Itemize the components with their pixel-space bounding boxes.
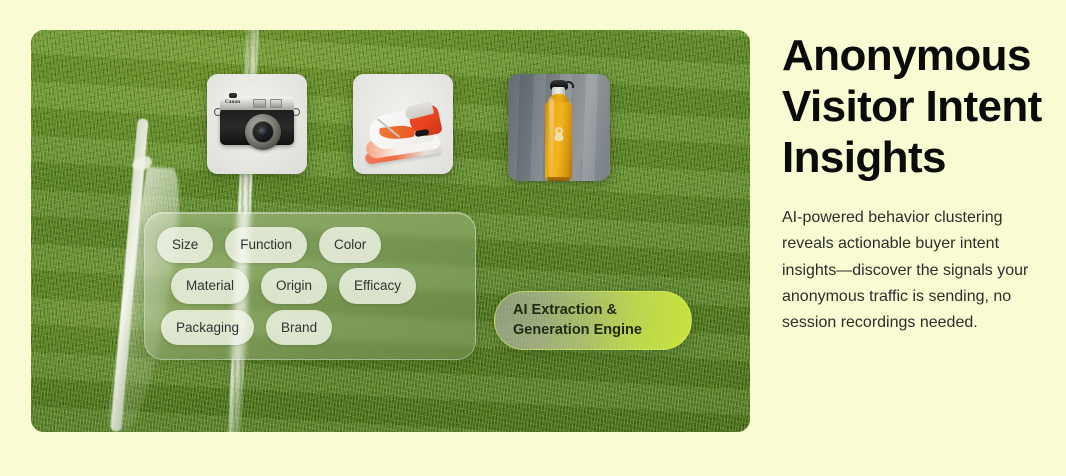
camera-shutter-button	[229, 93, 237, 98]
page-title: Anonymous Visitor Intent Insights	[782, 30, 1066, 183]
attribute-row: Material Origin Efficacy	[157, 268, 463, 304]
attribute-tag-origin[interactable]: Origin	[261, 268, 327, 304]
bottle-base	[547, 177, 570, 181]
product-thumb-camera[interactable]: Canon	[207, 74, 307, 174]
hero-text-column: Anonymous Visitor Intent Insights AI-pow…	[782, 30, 1040, 336]
hydroflask-logo-icon	[552, 126, 566, 142]
camera-viewfinder-window	[253, 99, 266, 108]
ai-engine-pill[interactable]: AI Extraction & Generation Engine	[494, 291, 692, 350]
camera-rangefinder-window	[270, 99, 282, 108]
ai-engine-pill-label: AI Extraction & Generation Engine	[513, 301, 663, 339]
product-thumb-bottle[interactable]	[508, 74, 610, 181]
attribute-tag-color[interactable]: Color	[319, 227, 381, 263]
attribute-tag-material[interactable]: Material	[171, 268, 249, 304]
product-thumb-shoe[interactable]	[353, 74, 453, 174]
attribute-row: Packaging Brand	[157, 310, 463, 346]
camera-lens-glass	[258, 127, 268, 137]
hero-visual-card: Canon	[31, 30, 750, 432]
attribute-tag-function[interactable]: Function	[225, 227, 307, 263]
attribute-glass-panel: Size Function Color Material Origin Effi…	[144, 212, 476, 360]
attribute-tag-brand[interactable]: Brand	[266, 310, 332, 346]
attribute-tag-efficacy[interactable]: Efficacy	[339, 268, 416, 304]
page-description: AI-powered behavior clustering reveals a…	[782, 205, 1034, 336]
attribute-tag-packaging[interactable]: Packaging	[161, 310, 254, 346]
attribute-row: Size Function Color	[157, 227, 463, 263]
attribute-tag-size[interactable]: Size	[157, 227, 213, 263]
camera-brand-text: Canon	[225, 100, 240, 105]
